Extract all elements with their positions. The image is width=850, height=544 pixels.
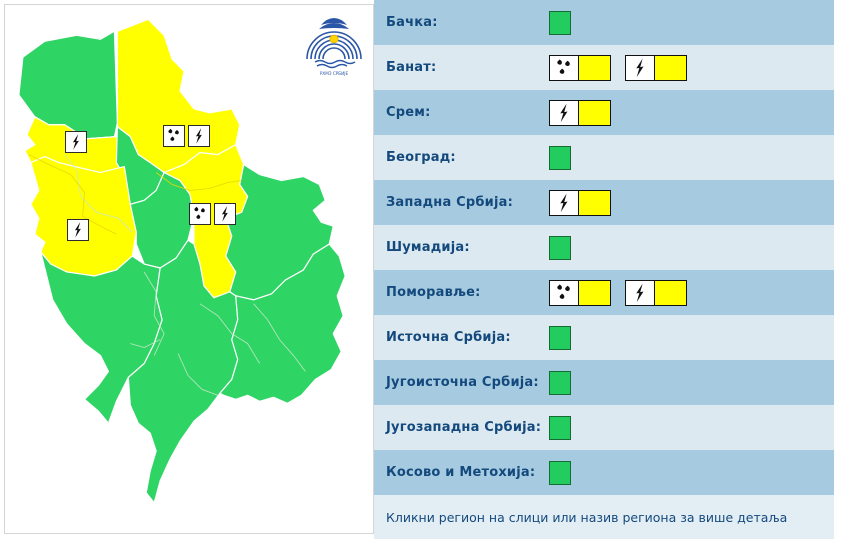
row-backa-indicators [549, 11, 571, 35]
no-warning-green-square [549, 461, 571, 485]
map-region-zapadna-srbija[interactable] [31, 157, 136, 276]
footer-hint-text: Кликни регион на слици или назив региона… [374, 510, 787, 525]
row-sumadija-indicators [549, 236, 571, 260]
row-kosovo-i-metohija-indicators [549, 461, 571, 485]
thunderstorm-icon [550, 191, 579, 215]
no-warning-green-square [549, 11, 571, 35]
warning-rain-0 [549, 280, 611, 306]
rain-icon [164, 126, 184, 146]
warning-level-swatch [579, 56, 610, 80]
row-jugoistocna-srbija-indicators [549, 371, 571, 395]
row-zapadna-srbija[interactable]: Западна Србија: [374, 180, 834, 225]
row-sumadija-label[interactable]: Шумадија: [374, 240, 549, 255]
row-banat[interactable]: Банат: [374, 45, 834, 90]
map-badge-pomoravlje-thunder[interactable] [214, 203, 236, 225]
thunderstorm-icon [189, 126, 209, 146]
svg-text:РХМЗ СРБИЈЕ: РХМЗ СРБИЈЕ [320, 71, 349, 76]
map-badge-banat-thunder[interactable] [188, 125, 210, 147]
row-jugoistocna-srbija-label[interactable]: Југоисточна Србија: [374, 375, 549, 390]
row-istocna-srbija[interactable]: Источна Србија: [374, 315, 834, 360]
row-pomoravlje-label[interactable]: Поморавље: [374, 285, 549, 300]
warning-level-swatch [655, 56, 686, 80]
row-pomoravlje[interactable]: Поморавље: [374, 270, 834, 315]
footer-row: Кликни регион на слици или назив региона… [374, 495, 834, 539]
warning-level-swatch [579, 101, 610, 125]
row-banat-label[interactable]: Банат: [374, 60, 549, 75]
thunderstorm-icon [215, 204, 235, 224]
row-srem-label[interactable]: Срем: [374, 105, 549, 120]
row-zapadna-srbija-indicators [549, 190, 611, 216]
warning-level-swatch [579, 281, 610, 305]
warning-level-swatch [579, 191, 610, 215]
serbia-map[interactable] [5, 5, 373, 533]
row-jugoistocna-srbija[interactable]: Југоисточна Србија: [374, 360, 834, 405]
no-warning-green-square [549, 371, 571, 395]
weather-warning-page: РХМЗ СРБИЈЕ [0, 0, 850, 544]
thunderstorm-icon [68, 220, 88, 240]
row-jugozapadna-srbija[interactable]: Југозападна Србија: [374, 405, 834, 450]
rhmz-logo: РХМЗ СРБИЈЕ [303, 13, 365, 79]
region-list-panel: Бачка:Банат:Срем:Београд:Западна Србија:… [374, 0, 846, 544]
row-pomoravlje-indicators [549, 280, 687, 306]
thunderstorm-icon [66, 132, 86, 152]
rhmz-logo-icon: РХМЗ СРБИЈЕ [303, 13, 365, 79]
map-badge-srem-thunder[interactable] [65, 131, 87, 153]
region-rows: Бачка:Банат:Срем:Београд:Западна Србија:… [374, 0, 846, 495]
warning-level-swatch [655, 281, 686, 305]
thunderstorm-icon [550, 101, 579, 125]
row-backa[interactable]: Бачка: [374, 0, 834, 45]
row-kosovo-i-metohija[interactable]: Косово и Метохија: [374, 450, 834, 495]
thunderstorm-icon [626, 56, 655, 80]
row-backa-label[interactable]: Бачка: [374, 15, 549, 30]
row-sumadija[interactable]: Шумадија: [374, 225, 834, 270]
warning-thunderstorm-0 [549, 100, 611, 126]
map-badge-zapadna-thunder[interactable] [67, 219, 89, 241]
row-zapadna-srbija-label[interactable]: Западна Србија: [374, 195, 549, 210]
no-warning-green-square [549, 416, 571, 440]
row-jugozapadna-srbija-label[interactable]: Југозападна Србија: [374, 420, 549, 435]
no-warning-green-square [549, 146, 571, 170]
row-beograd[interactable]: Београд: [374, 135, 834, 180]
map-panel[interactable]: РХМЗ СРБИЈЕ [4, 4, 374, 534]
no-warning-green-square [549, 326, 571, 350]
row-istocna-srbija-indicators [549, 326, 571, 350]
row-beograd-label[interactable]: Београд: [374, 150, 549, 165]
no-warning-green-square [549, 236, 571, 260]
row-beograd-indicators [549, 146, 571, 170]
row-jugozapadna-srbija-indicators [549, 416, 571, 440]
row-srem-indicators [549, 100, 611, 126]
row-banat-indicators [549, 55, 687, 81]
rain-icon [190, 204, 210, 224]
warning-thunderstorm-1 [625, 280, 687, 306]
thunderstorm-icon [626, 281, 655, 305]
rain-icon [550, 56, 579, 80]
map-badge-banat-rain[interactable] [163, 125, 185, 147]
warning-rain-0 [549, 55, 611, 81]
map-badge-pomoravlje-rain[interactable] [189, 203, 211, 225]
row-istocna-srbija-label[interactable]: Источна Србија: [374, 330, 549, 345]
row-kosovo-i-metohija-label[interactable]: Косово и Метохија: [374, 465, 549, 480]
warning-thunderstorm-1 [625, 55, 687, 81]
warning-thunderstorm-0 [549, 190, 611, 216]
rain-icon [550, 281, 579, 305]
row-srem[interactable]: Срем: [374, 90, 834, 135]
